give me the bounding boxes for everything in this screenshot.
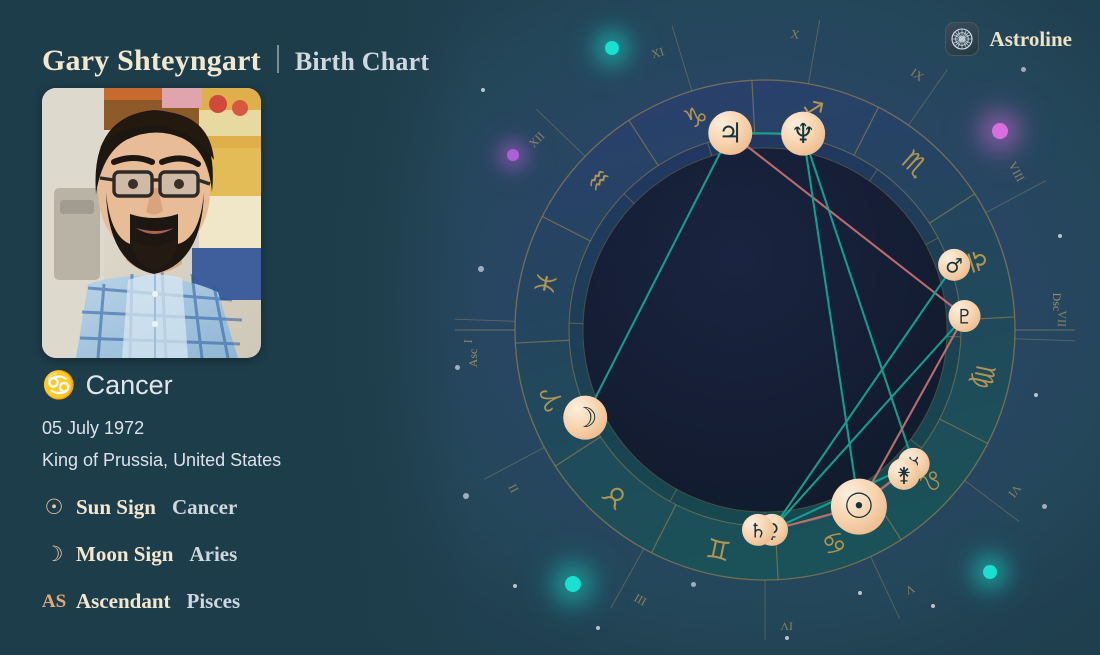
- birth-chart-wheel[interactable]: IIIIIIIVVVIVIIVIIIIXXXIXII AscDsc ♑♒♓♈♉♊…: [455, 20, 1075, 640]
- ascendant-label: Ascendant: [76, 589, 171, 614]
- avatar: [42, 88, 261, 358]
- cancer-icon: ♋: [42, 372, 76, 399]
- planet-marker-sun[interactable]: ☉: [831, 479, 887, 535]
- inner-disc: [583, 148, 947, 512]
- house-cusp-extension: [986, 181, 1046, 213]
- detail-row-sun-sign: ☉ Sun Sign Cancer: [42, 495, 237, 520]
- zodiac-wheel-glyph: [950, 27, 974, 51]
- house-numeral: II: [505, 482, 521, 496]
- house-numeral: I: [461, 339, 475, 343]
- planet-marker-jupiter[interactable]: ♃: [708, 111, 752, 155]
- brand-logo[interactable]: Astroline: [945, 22, 1072, 56]
- planet-glyph-saturn: ♄: [749, 518, 767, 542]
- info-panel: Gary Shteyngart Birth Chart: [0, 0, 300, 655]
- house-numeral: VIII: [1006, 159, 1028, 184]
- page-title: Gary Shteyngart Birth Chart: [42, 42, 429, 78]
- planet-glyph-pluto: ♇: [956, 305, 974, 329]
- house-numeral: XI: [649, 44, 665, 61]
- house-numeral: III: [632, 591, 649, 609]
- planet-glyph-mars: ♂: [945, 253, 963, 277]
- sun-sign-headline: ♋ Cancer: [42, 372, 173, 399]
- house-numeral: VI: [1005, 482, 1024, 501]
- house-numeral: X: [790, 27, 801, 42]
- planet-glyph-neptune: ♆: [791, 118, 816, 150]
- sun-icon: ☉: [42, 497, 66, 518]
- sun-sign-name: Cancer: [86, 372, 173, 399]
- house-numeral: XII: [526, 129, 548, 151]
- house-numeral: VII: [1055, 310, 1070, 327]
- birth-chart-svg[interactable]: IIIIIIIVVVIVIIVIIIIXXXIXII AscDsc ♑♒♓♈♉♊…: [455, 20, 1075, 640]
- planet-glyph-sun: ☉: [843, 487, 874, 527]
- portrait-photo: [42, 88, 261, 358]
- page-subtitle: Birth Chart: [295, 47, 429, 77]
- ascendant-icon: AS: [42, 592, 66, 611]
- moon-sign-value: Aries: [189, 542, 237, 567]
- planet-marker-pluto[interactable]: ♇: [949, 300, 981, 332]
- planet-marker-neptune[interactable]: ♆: [781, 112, 825, 156]
- planet-glyph-uranus: ⚵: [897, 462, 912, 486]
- planet-marker-mars[interactable]: ♂: [938, 249, 970, 281]
- detail-row-ascendant: AS Ascendant Pisces: [42, 589, 240, 614]
- app-root: IIIIIIIVVVIVIIVIIIIXXXIXII AscDsc ♑♒♓♈♉♊…: [0, 0, 1100, 655]
- planet-marker-saturn[interactable]: ♄: [742, 514, 774, 546]
- moon-icon: ☽: [42, 544, 66, 565]
- house-cusp-extension: [536, 109, 585, 156]
- sun-sign-value: Cancer: [172, 495, 237, 520]
- house-cusp-extension: [871, 557, 900, 619]
- planet-marker-uranus[interactable]: ⚵: [888, 458, 920, 490]
- axis-label-dsc: Dsc: [1050, 293, 1064, 312]
- planet-marker-moon[interactable]: ☽: [563, 396, 607, 440]
- house-cusp-extension: [1015, 339, 1075, 341]
- wheel-rings: [515, 80, 1015, 580]
- zodiac-wheel-icon: [945, 22, 979, 56]
- title-divider: [277, 45, 279, 73]
- brand-name: Astroline: [990, 27, 1072, 52]
- birth-place: King of Prussia, United States: [42, 450, 281, 471]
- planet-glyph-jupiter: ♃: [718, 118, 743, 150]
- person-name: Gary Shteyngart: [42, 44, 261, 78]
- detail-row-moon-sign: ☽ Moon Sign Aries: [42, 542, 237, 567]
- house-numeral: V: [903, 581, 917, 597]
- house-numeral: IX: [908, 65, 927, 84]
- house-cusp-extension: [808, 20, 820, 84]
- ascendant-value: Pisces: [187, 589, 241, 614]
- sun-sign-label: Sun Sign: [76, 495, 156, 520]
- house-numeral: IV: [780, 619, 793, 633]
- house-cusp-extension: [484, 447, 544, 479]
- moon-sign-label: Moon Sign: [76, 542, 173, 567]
- planet-glyph-moon: ☽: [573, 402, 598, 434]
- birth-date: 05 July 1972: [42, 418, 144, 439]
- axis-label-asc: Asc: [466, 349, 480, 368]
- house-cusp-extension: [455, 319, 515, 321]
- house-cusp-extension: [672, 26, 692, 91]
